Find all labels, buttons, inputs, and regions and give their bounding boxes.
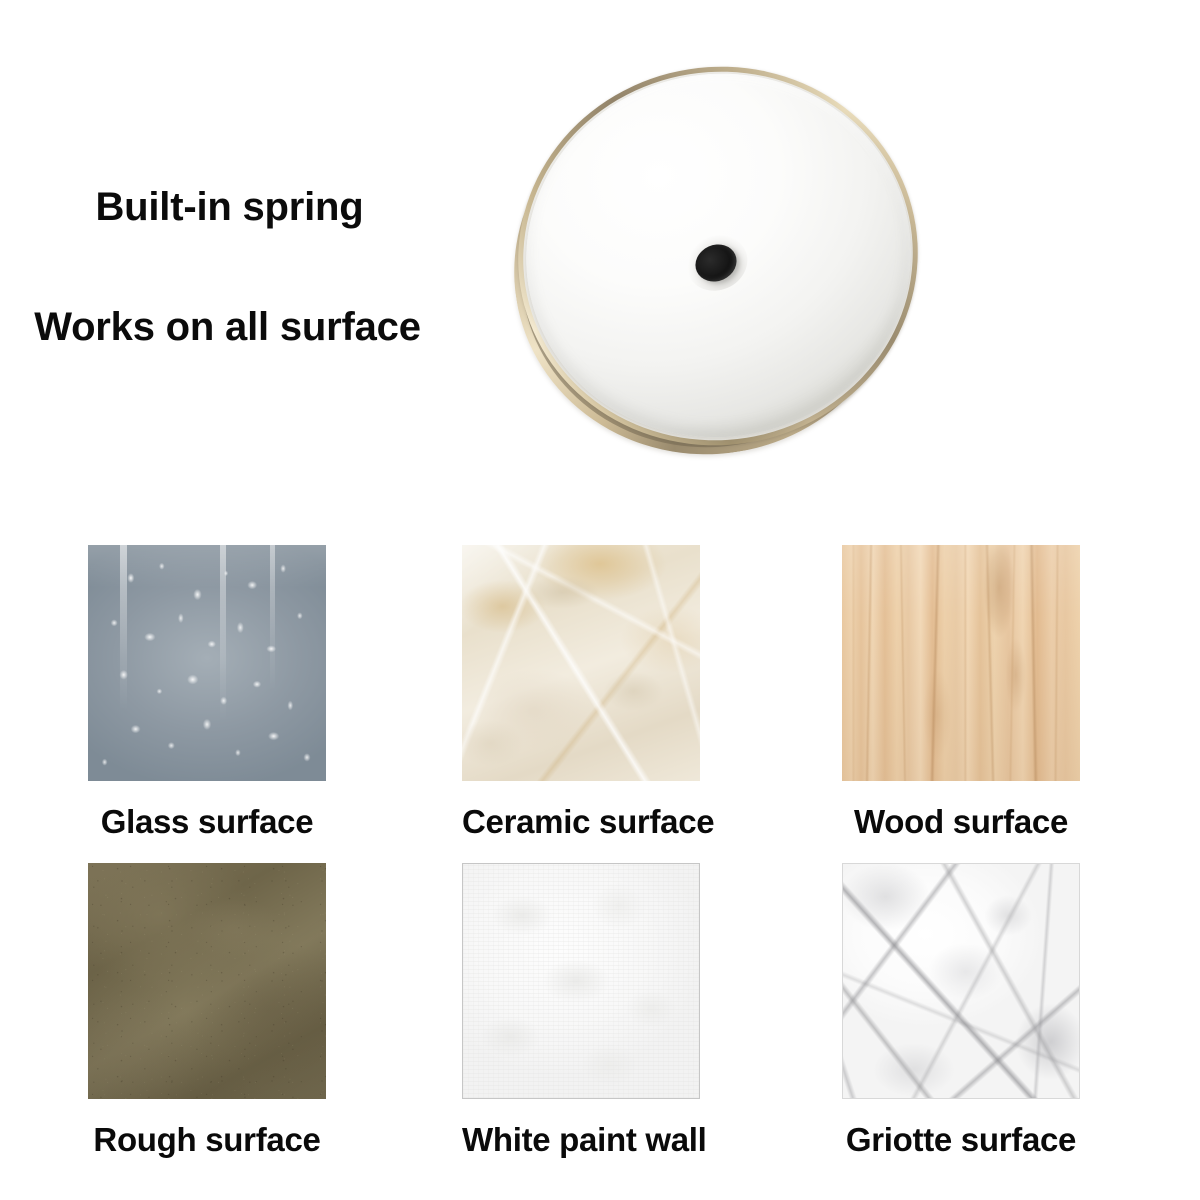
white-paint-wall-label: White paint wall [462,1121,700,1159]
surface-cell-glass: Glass surface [88,545,334,841]
wood-surface-label: Wood surface [842,803,1080,841]
surface-cell-wood: Wood surface [842,545,1088,841]
ceramic-surface-label: Ceramic surface [462,803,700,841]
feature-text-block: Built-in spring Works on all surface [0,186,455,348]
griotte-surface-label: Griotte surface [842,1121,1080,1159]
ceramic-surface-swatch [462,545,700,781]
surface-row-top: Glass surface Ceramic surface Wood surfa… [0,545,1200,863]
white-paint-wall-swatch [462,863,700,1099]
wood-surface-swatch [842,545,1080,781]
glass-surface-label: Glass surface [88,803,326,841]
rough-surface-swatch [88,863,326,1099]
surface-cell-rough: Rough surface [88,863,334,1159]
surface-compatibility-grid: Glass surface Ceramic surface Wood surfa… [0,545,1200,1181]
surface-row-bottom: Rough surface White paint wall Griotte s… [0,863,1200,1181]
griotte-surface-swatch [842,863,1080,1099]
surface-cell-white-paint-wall: White paint wall [462,863,708,1159]
surface-cell-ceramic: Ceramic surface [462,545,708,841]
feature-line-works-on-all-surface: Works on all surface [0,306,455,348]
rough-surface-label: Rough surface [88,1121,326,1159]
feature-line-built-in-spring: Built-in spring [0,186,455,228]
surface-cell-griotte: Griotte surface [842,863,1088,1159]
glass-surface-swatch [88,545,326,781]
